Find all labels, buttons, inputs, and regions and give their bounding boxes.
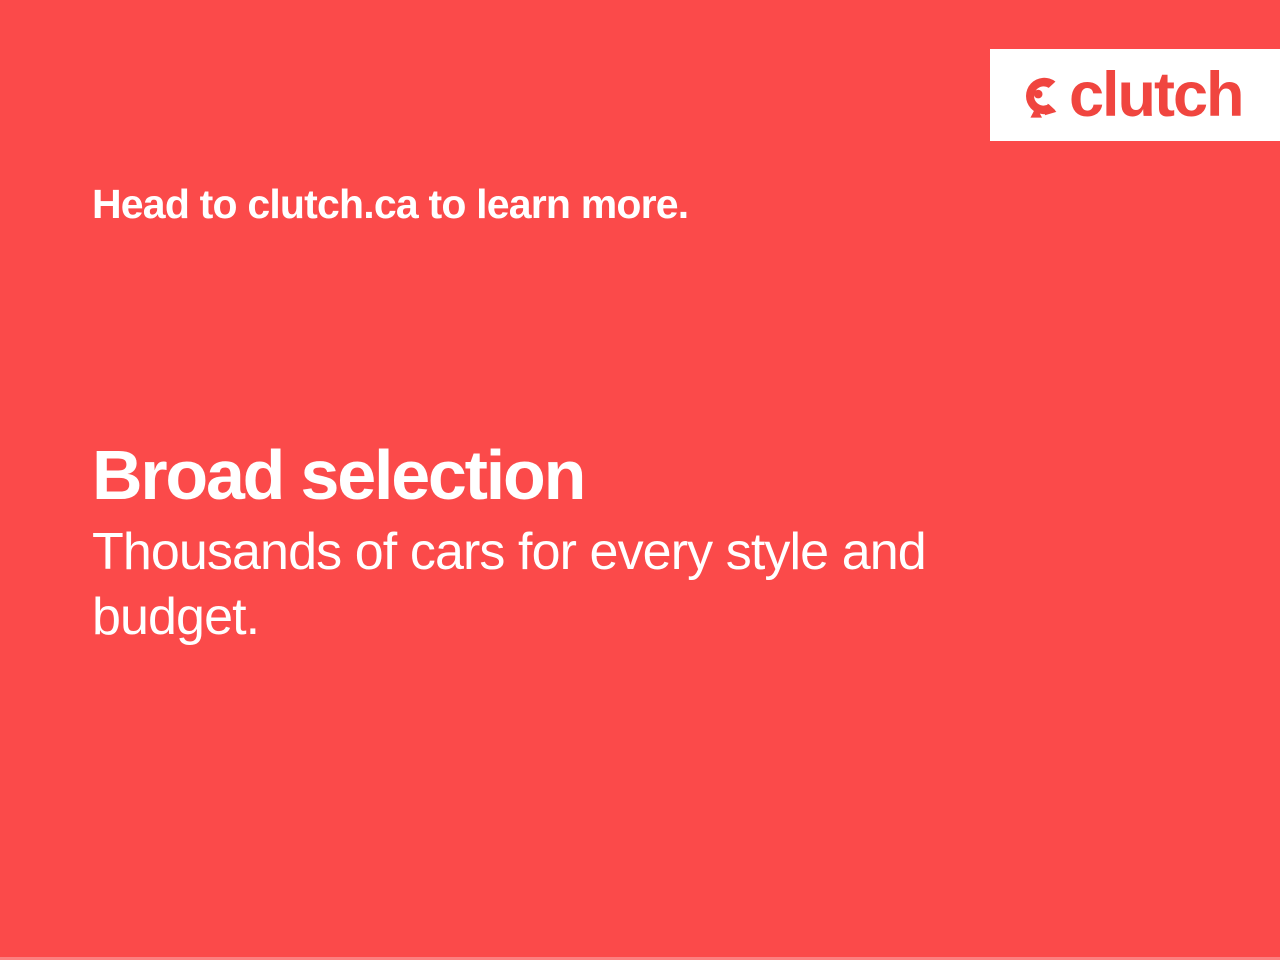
clutch-logo-badge[interactable]: clutch	[990, 49, 1280, 141]
subtitle-text: Thousands of cars for every style and bu…	[92, 520, 1022, 649]
marketing-slide: clutch Head to clutch.ca to learn more. …	[0, 0, 1280, 960]
page-title: Broad selection	[92, 438, 1092, 512]
clutch-disc-c-icon	[1018, 72, 1066, 120]
eyebrow-text: Head to clutch.ca to learn more.	[92, 182, 688, 228]
clutch-wordmark: clutch	[1069, 64, 1243, 127]
headline-block: Broad selection Thousands of cars for ev…	[92, 438, 1092, 649]
logo-lockup: clutch	[1018, 64, 1243, 127]
